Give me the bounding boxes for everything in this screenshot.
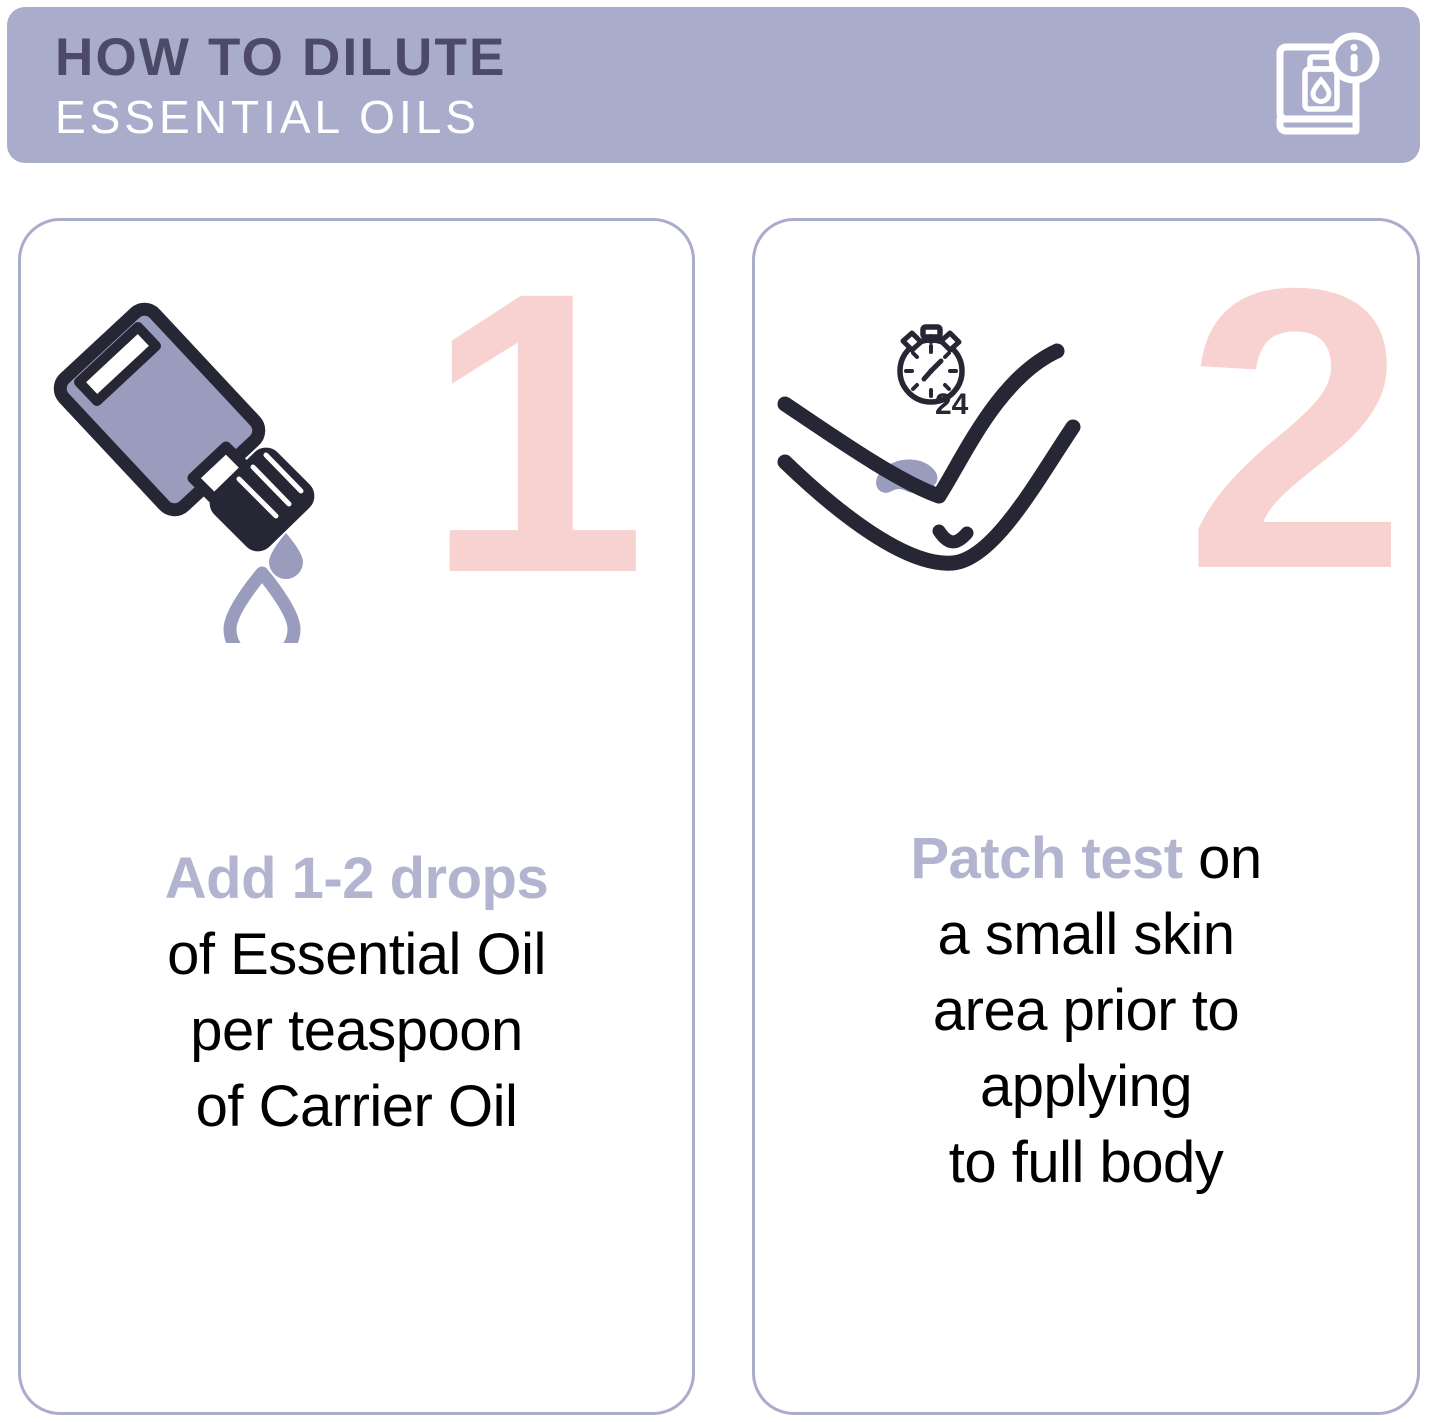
arm-elbow-patch-test-stopwatch-icon: 24 <box>767 299 1107 579</box>
card-1-highlight: Add 1-2 drops <box>39 841 674 917</box>
page-subtitle: ESSENTIAL OILS <box>55 89 507 145</box>
oil-bottle-info-book-icon <box>1276 31 1382 143</box>
infographic-page: HOW TO DILUTE ESSENTIAL OILS <box>0 0 1438 1422</box>
card-2-highlight-line: Patch test on <box>773 821 1399 897</box>
card-2-highlight: Patch test <box>910 826 1182 891</box>
dropper-bottle-with-drops-icon <box>43 283 343 643</box>
header-title-group: HOW TO DILUTE ESSENTIAL OILS <box>55 27 507 145</box>
card-2-line-4: to full body <box>773 1125 1399 1201</box>
card-2-highlight-suffix: on <box>1183 826 1262 891</box>
page-title: HOW TO DILUTE <box>55 27 507 89</box>
card-2-line-1: a small skin <box>773 897 1399 973</box>
card-2-line-3: applying <box>773 1049 1399 1125</box>
step-card-2: 2 <box>752 218 1420 1415</box>
step-card-1: 1 <box>18 218 695 1415</box>
header-bar: HOW TO DILUTE ESSENTIAL OILS <box>7 7 1420 163</box>
step-number-1: 1 <box>425 243 637 623</box>
card-2-line-2: area prior to <box>773 973 1399 1049</box>
card-2-caption: Patch test on a small skin area prior to… <box>755 821 1417 1201</box>
card-1-line-2: per teaspoon <box>39 993 674 1069</box>
stopwatch-hours-label: 24 <box>935 388 969 421</box>
step-number-2: 2 <box>1185 239 1397 619</box>
card-1-line-3: of Carrier Oil <box>39 1069 674 1145</box>
card-1-line-1: of Essential Oil <box>39 917 674 993</box>
card-1-caption: Add 1-2 drops of Essential Oil per teasp… <box>21 841 692 1145</box>
